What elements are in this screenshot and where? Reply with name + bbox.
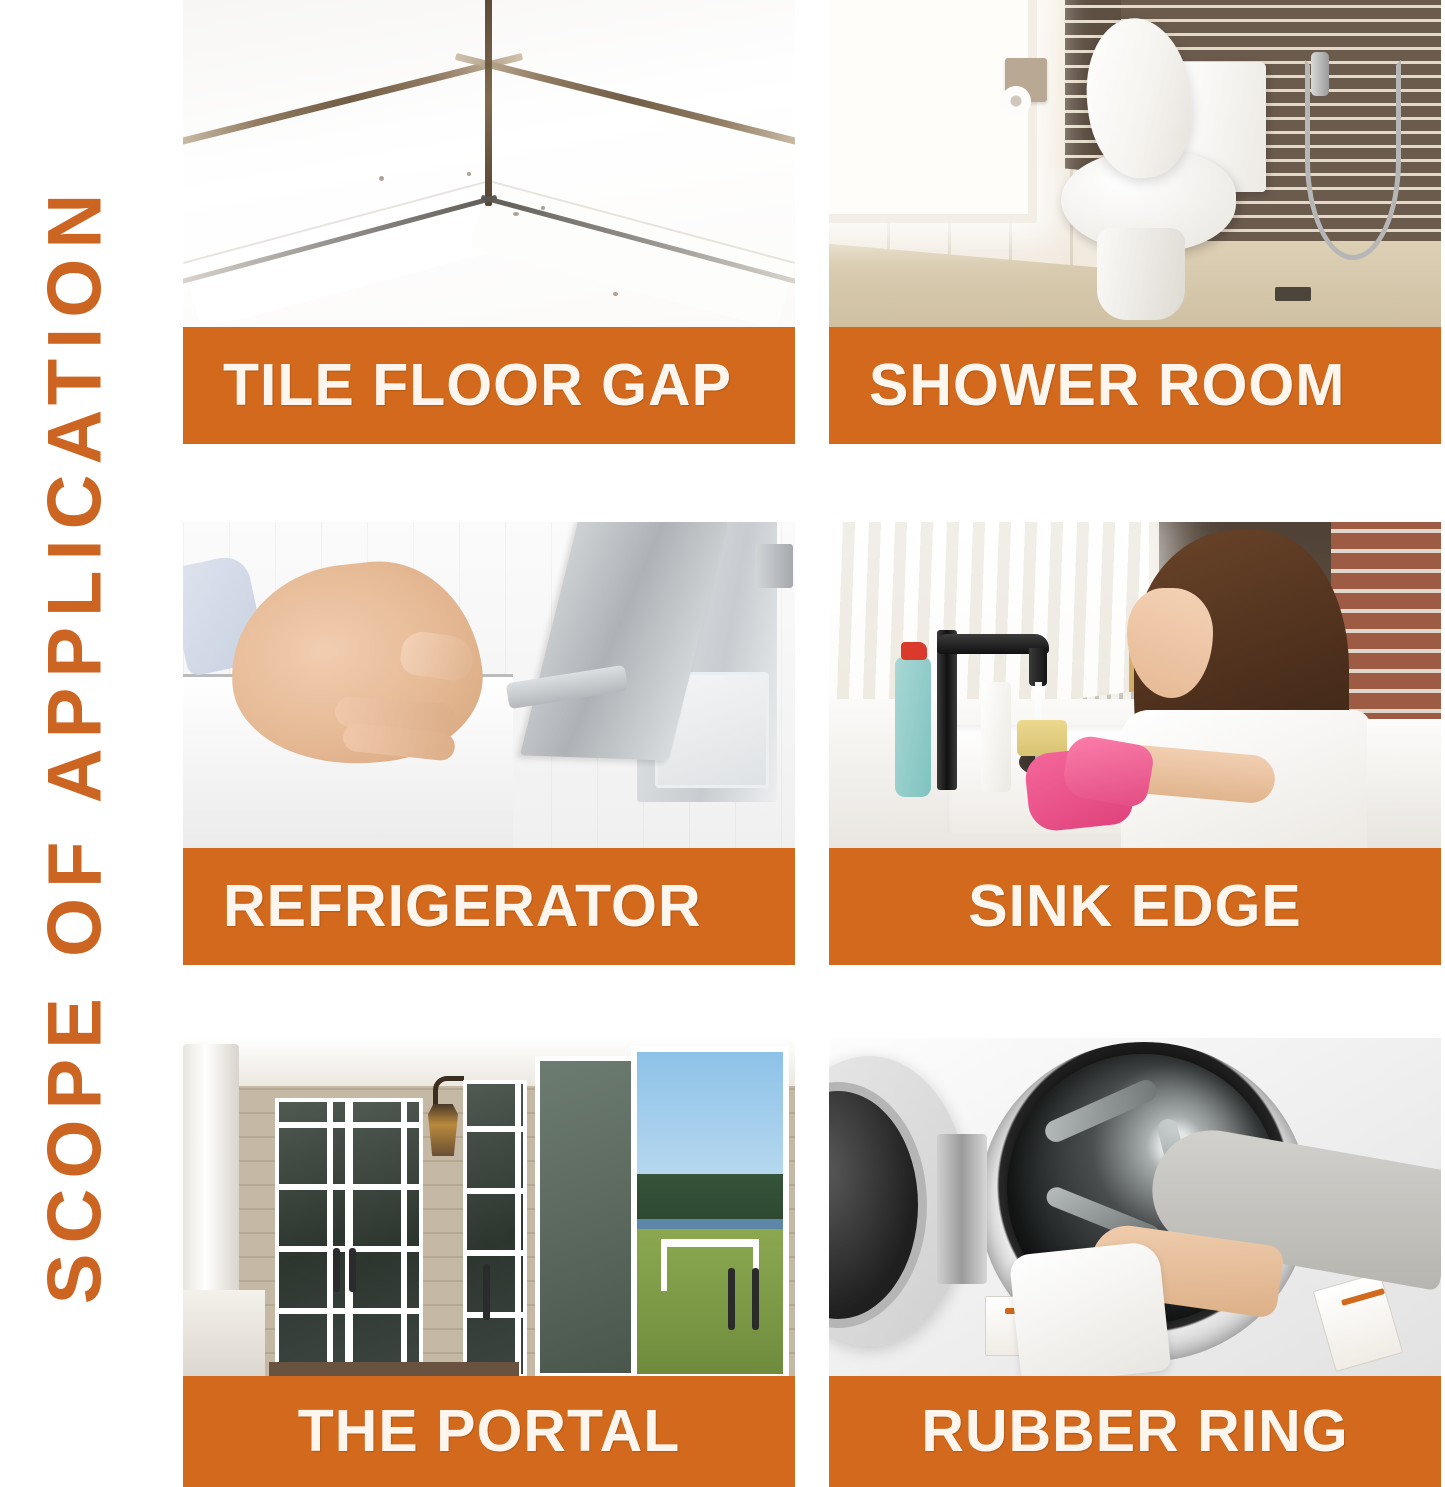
spray-cleaner-bottle <box>895 657 931 797</box>
card-refrigerator: REFRIGERATOR <box>183 522 795 965</box>
door-mullions <box>467 1084 523 1374</box>
caption-label: REFRIGERATOR <box>183 877 795 936</box>
faucet-spout-tip <box>1029 648 1047 686</box>
photo-rubber-ring <box>829 1038 1441 1376</box>
caption-bar-tile-floor-gap: TILE FLOOR GAP <box>183 327 795 444</box>
toilet-base <box>1097 228 1185 320</box>
photo-tile-floor-gap <box>183 0 795 327</box>
white-stool <box>1367 719 1441 849</box>
door-handle <box>483 1264 490 1320</box>
door-handle <box>349 1248 356 1292</box>
caption-bar-shower-room: SHOWER ROOM <box>829 327 1441 444</box>
card-shower-room: SHOWER ROOM <box>829 0 1441 444</box>
caption-bar-sink-edge: SINK EDGE <box>829 848 1441 965</box>
headline-text: SCOPE OF APPLICATION <box>37 183 113 1304</box>
cleaning-cloth <box>1009 1241 1172 1376</box>
caption-bar-refrigerator: REFRIGERATOR <box>183 848 795 965</box>
view-pergola <box>661 1239 759 1291</box>
mould-speck <box>541 206 545 210</box>
caption-label: SHOWER ROOM <box>829 356 1441 415</box>
scope-of-application-headline: SCOPE OF APPLICATION <box>0 0 150 1487</box>
door-handle <box>752 1268 759 1330</box>
card-rubber-ring: RUBBER RING <box>829 1038 1441 1487</box>
floor-drain <box>1275 287 1311 301</box>
fridge-door-hinge <box>755 544 793 588</box>
porch-column-base <box>183 1290 265 1376</box>
toilet-paper-roll <box>1001 86 1031 116</box>
caption-label: RUBBER RING <box>829 1402 1441 1461</box>
mould-speck <box>379 176 384 181</box>
grout-line-upper-right <box>455 53 795 147</box>
porch-column <box>183 1044 239 1306</box>
application-scope-grid: TILE FLOOR GAP SHOWER ROOM <box>183 0 1441 1487</box>
washer-door-hinge <box>937 1134 987 1284</box>
door-mullions <box>279 1102 345 1370</box>
bottle-cap <box>901 642 927 660</box>
door-handle <box>728 1268 735 1330</box>
card-the-portal: THE PORTAL <box>183 1038 795 1487</box>
mould-speck <box>613 292 618 296</box>
caption-label: SINK EDGE <box>829 877 1441 936</box>
sponge <box>1017 720 1067 756</box>
photo-shower-room <box>829 0 1441 327</box>
tile-skirting-left <box>183 180 508 327</box>
caption-bar-the-portal: THE PORTAL <box>183 1376 795 1487</box>
french-door-with-view <box>631 1046 789 1376</box>
caption-bar-rubber-ring: RUBBER RING <box>829 1376 1441 1487</box>
tile-skirting-right <box>470 180 795 327</box>
grout-line-upper-left <box>183 53 523 147</box>
door-threshold <box>269 1362 519 1376</box>
french-door-left <box>275 1098 349 1374</box>
mould-speck <box>513 212 519 216</box>
photo-sink-edge <box>829 522 1441 849</box>
card-sink-edge: SINK EDGE <box>829 522 1441 965</box>
card-tile-floor-gap: TILE FLOOR GAP <box>183 0 795 444</box>
french-door-center <box>463 1080 527 1376</box>
bidet-sprayer-head <box>1311 52 1329 96</box>
french-door-right <box>349 1098 423 1374</box>
caption-label: THE PORTAL <box>183 1402 795 1461</box>
grout-line-vertical <box>485 0 492 206</box>
photo-refrigerator <box>183 522 795 849</box>
soap-dispenser <box>981 682 1011 792</box>
door-mullions <box>353 1102 419 1370</box>
door-handle <box>333 1248 340 1292</box>
mould-speck <box>467 172 471 176</box>
caption-label: TILE FLOOR GAP <box>183 356 795 415</box>
lantern-sconce <box>428 1104 458 1156</box>
faucet-column <box>937 630 957 790</box>
photo-the-portal <box>183 1038 795 1376</box>
